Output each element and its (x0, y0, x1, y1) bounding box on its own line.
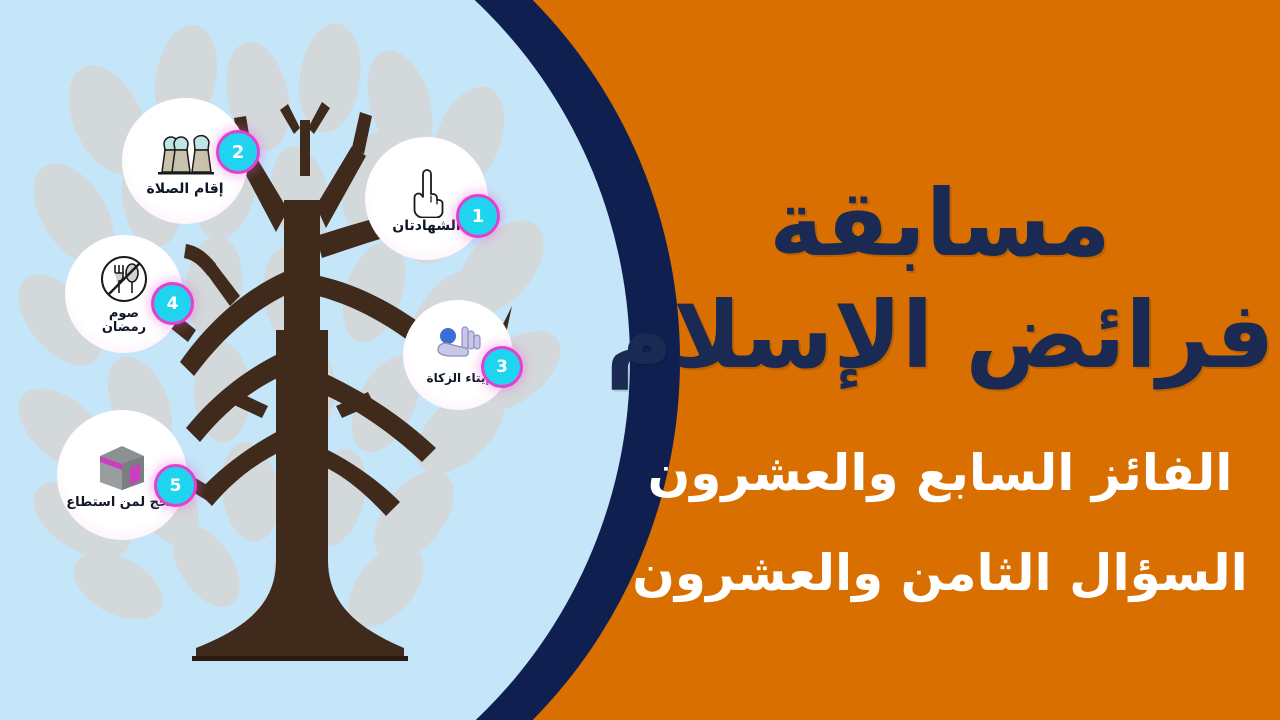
pillar-label-4: صوم رمضان (102, 307, 146, 334)
tree-illustration (0, 0, 640, 720)
open-hand-coin-icon (432, 326, 484, 370)
pillar-bubble-4[interactable]: صوم رمضان 4 (65, 235, 183, 353)
pillar-badge-4: 4 (151, 282, 194, 325)
pillar-label-1: الشهادتان (392, 219, 460, 234)
praying-people-icon (154, 126, 216, 180)
title-line-2: فرائض الإسلام (600, 290, 1280, 382)
pillar-badge-2: 2 (216, 130, 260, 174)
pillar-label-2: إقام الصلاة (146, 182, 223, 197)
pillar-bubble-3[interactable]: إيتاء الزكاة 3 (403, 300, 513, 410)
pointing-finger-hand-icon (407, 164, 447, 218)
subtitle-line-1: الفائز السابع والعشرون (600, 448, 1280, 498)
no-eating-fork-spoon-icon (98, 253, 150, 305)
kaaba-icon (94, 440, 150, 494)
pillar-badge-1: 1 (456, 194, 500, 238)
pillar-badge-3: 3 (481, 346, 523, 388)
title-line-1: مسابقة (600, 178, 1280, 270)
pillar-bubble-5[interactable]: الحج لمن استطاع 5 (57, 410, 187, 540)
pillar-label-3: إيتاء الزكاة (427, 372, 490, 385)
pillar-bubble-2[interactable]: إقام الصلاة 2 (122, 98, 248, 224)
pillar-bubble-1[interactable]: الشهادتان 1 (365, 137, 488, 260)
subtitle-line-2: السؤال الثامن والعشرون (600, 548, 1280, 598)
slide-canvas: الشهادتان 1 إقام الصلاة 2 (0, 0, 1280, 720)
pillar-badge-5: 5 (154, 464, 197, 507)
text-panel: مسابقة فرائض الإسلام الفائز السابع والعش… (600, 0, 1280, 720)
